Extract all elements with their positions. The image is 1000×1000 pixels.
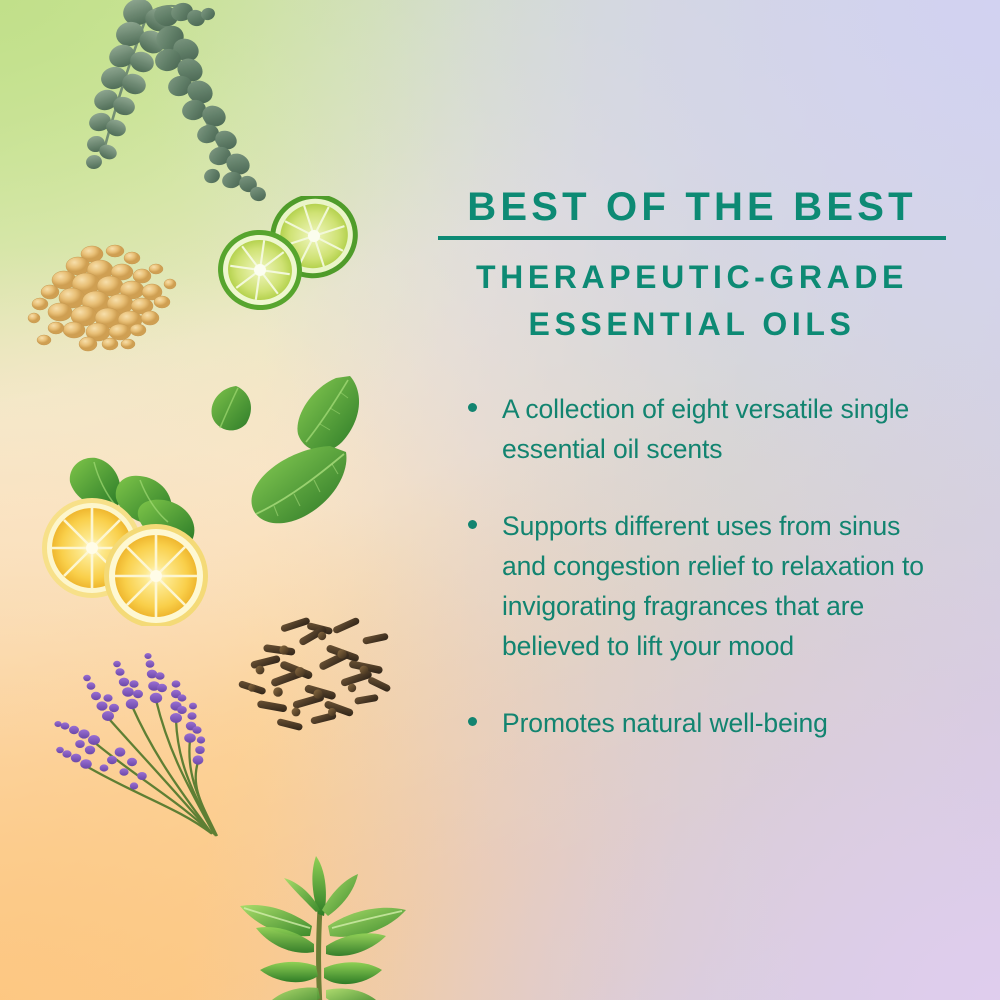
page-title: BEST OF THE BEST [438,186,946,240]
page-subtitle: THERAPEUTIC-GRADE ESSENTIAL OILS [438,254,946,347]
bullet-dot-icon [468,717,477,726]
bullet-dot-icon [468,403,477,412]
copy-block: BEST OF THE BEST THERAPEUTIC-GRADE ESSEN… [438,186,958,743]
list-item-label: Promotes natural well-being [502,708,828,738]
page-subtitle-line-2: ESSENTIAL OILS [438,301,946,347]
feature-list: A collection of eight versatile single e… [460,389,958,743]
poster-canvas: BEST OF THE BEST THERAPEUTIC-GRADE ESSEN… [0,0,1000,1000]
list-item: A collection of eight versatile single e… [460,389,930,470]
list-item-label: Supports different uses from sinus and c… [502,511,924,662]
page-subtitle-line-1: THERAPEUTIC-GRADE [438,254,946,300]
bullet-dot-icon [468,520,477,529]
list-item: Supports different uses from sinus and c… [460,506,930,667]
list-item: Promotes natural well-being [460,703,930,743]
list-item-label: A collection of eight versatile single e… [502,394,909,464]
